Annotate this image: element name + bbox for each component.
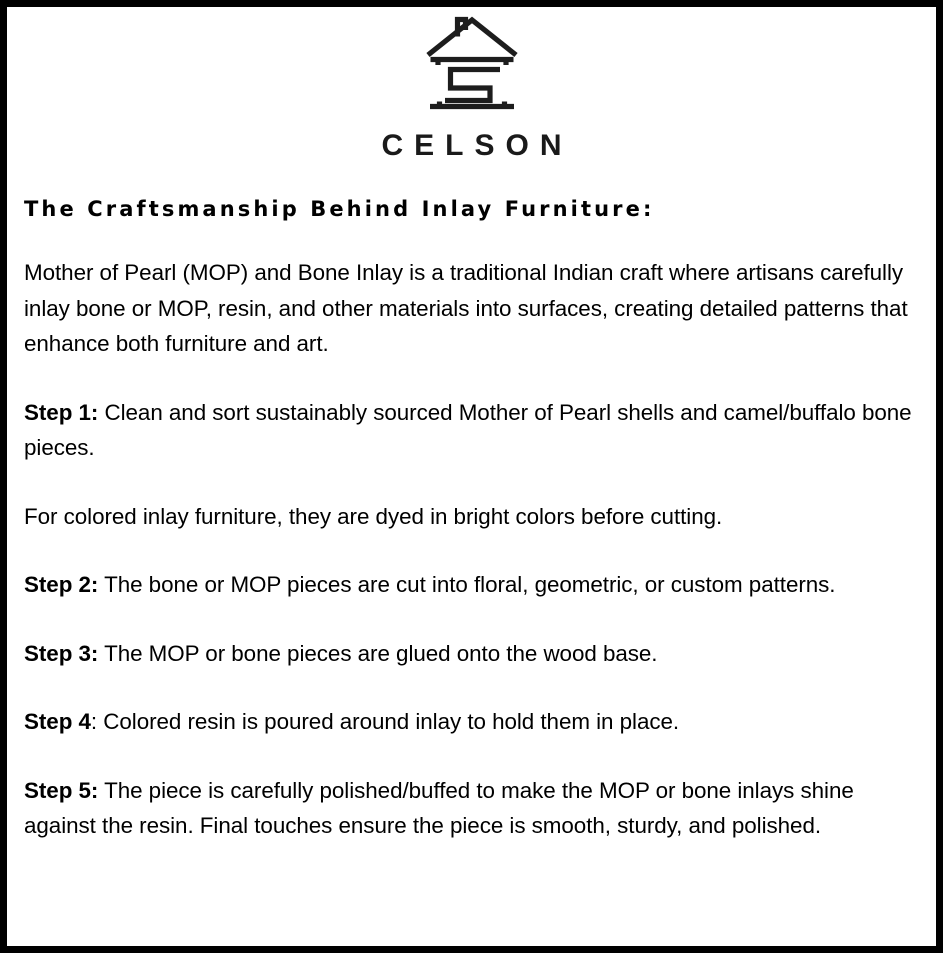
step-label-6: Step 5: [24, 778, 98, 803]
step-text-1: Clean and sort sustainably sourced Mothe… [24, 400, 912, 461]
step-paragraph-2: For colored inlay furniture, they are dy… [24, 499, 921, 535]
article-body: Mother of Pearl (MOP) and Bone Inlay is … [24, 255, 927, 844]
step-text-2: For colored inlay furniture, they are dy… [24, 504, 722, 529]
step-text-4: The MOP or bone pieces are glued onto th… [98, 641, 657, 666]
step-text-6: The piece is carefully polished/buffed t… [24, 778, 854, 839]
step-paragraph-3: Step 2: The bone or MOP pieces are cut i… [24, 567, 921, 603]
step-paragraph-6: Step 5: The piece is carefully polished/… [24, 773, 921, 844]
step-label-3: Step 2: [24, 572, 98, 597]
poster-content: CELSON The Craftsmanship Behind Inlay Fu… [7, 7, 936, 946]
step-text-3: The bone or MOP pieces are cut into flor… [98, 572, 835, 597]
intro-paragraph: Mother of Pearl (MOP) and Bone Inlay is … [24, 255, 921, 362]
step-label-5: Step 4 [24, 709, 91, 734]
step-text-5: : Colored resin is poured around inlay t… [91, 709, 679, 734]
step-label-4: Step 3: [24, 641, 98, 666]
step-paragraph-4: Step 3: The MOP or bone pieces are glued… [24, 636, 921, 672]
step-paragraph-1: Step 1: Clean and sort sustainably sourc… [24, 395, 921, 466]
house-with-s-monogram-icon [424, 12, 520, 116]
page-title: The Craftsmanship Behind Inlay Furniture… [24, 197, 927, 221]
poster-card: CELSON The Craftsmanship Behind Inlay Fu… [0, 0, 943, 953]
step-paragraph-5: Step 4: Colored resin is poured around i… [24, 704, 921, 740]
brand-wordmark: CELSON [16, 129, 927, 163]
step-label-1: Step 1: [24, 400, 98, 425]
brand-header: CELSON [16, 7, 927, 163]
